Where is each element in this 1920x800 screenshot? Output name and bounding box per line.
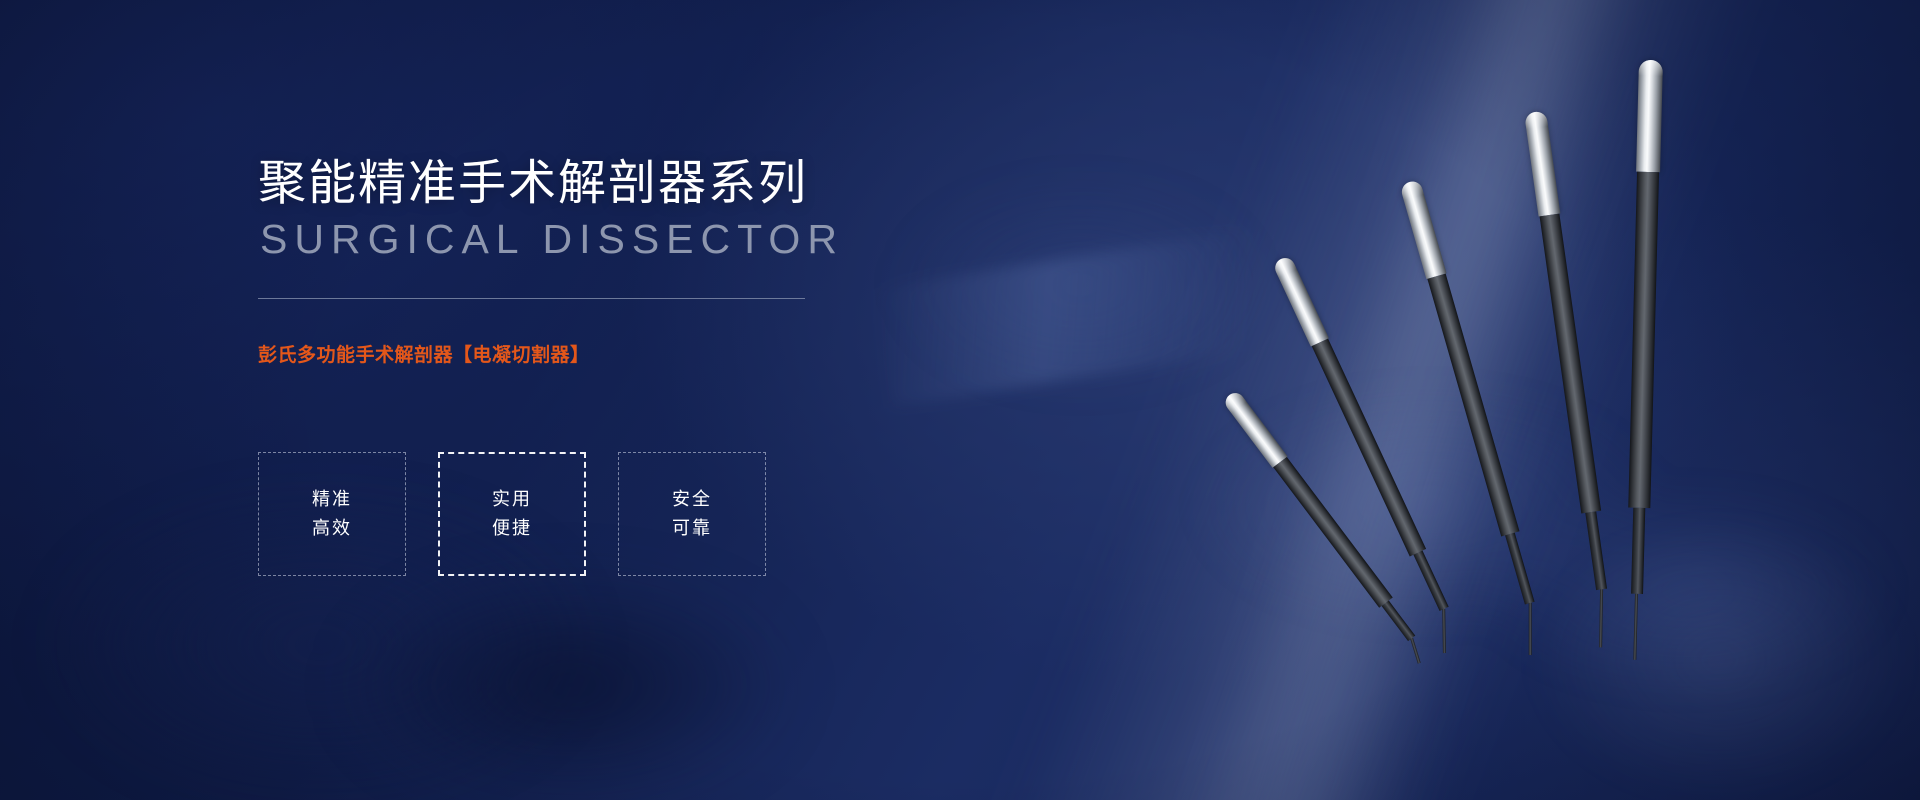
feature-badge-line-1: 安全 bbox=[672, 490, 712, 510]
feature-badge-precision: 精准 高效 bbox=[258, 452, 406, 576]
feature-badge-practical: 实用 便捷 bbox=[438, 452, 586, 576]
page-subtitle-english: SURGICAL DISSECTOR bbox=[260, 216, 844, 263]
feature-badge-list: 精准 高效 实用 便捷 安全 可靠 bbox=[258, 452, 766, 576]
feature-badge-line-1: 精准 bbox=[312, 490, 352, 510]
feature-badge-line-2: 高效 bbox=[312, 519, 352, 539]
feature-badge-line-2: 可靠 bbox=[672, 519, 712, 539]
title-divider bbox=[258, 298, 805, 299]
product-name-label: 彭氏多功能手术解剖器【电凝切割器】 bbox=[258, 340, 590, 367]
feature-badge-safety: 安全 可靠 bbox=[618, 452, 766, 576]
feature-badge-line-2: 便捷 bbox=[492, 519, 532, 539]
feature-badge-line-1: 实用 bbox=[492, 490, 532, 510]
page-title: 聚能精准手术解剖器系列 bbox=[258, 143, 808, 213]
banner-content: 聚能精准手术解剖器系列 SURGICAL DISSECTOR 彭氏多功能手术解剖… bbox=[258, 0, 1078, 800]
surgical-dissector-banner: 聚能精准手术解剖器系列 SURGICAL DISSECTOR 彭氏多功能手术解剖… bbox=[0, 0, 1920, 800]
